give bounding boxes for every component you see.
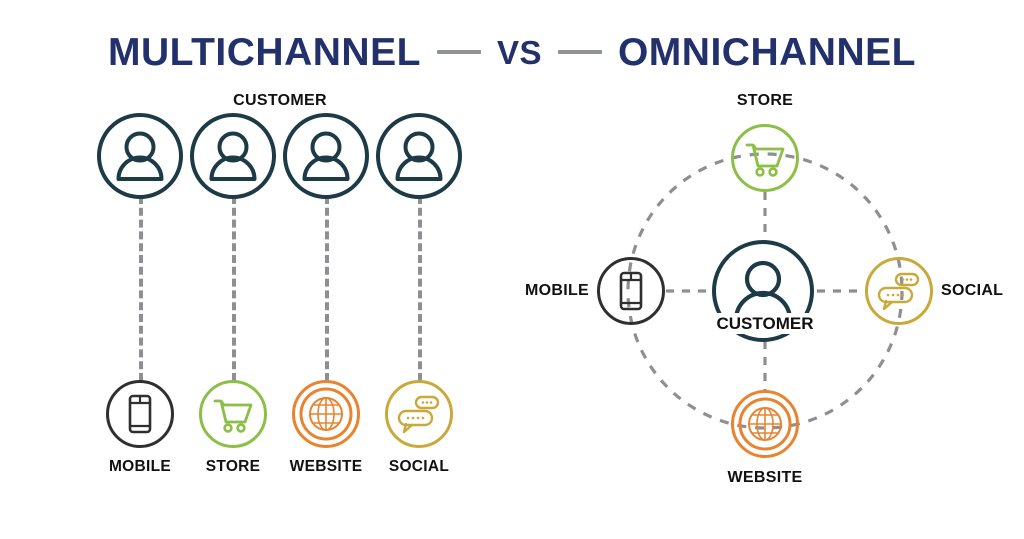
title-dash-left — [437, 50, 481, 54]
title-vs: VS — [497, 36, 542, 69]
channel-ring-mobile — [597, 257, 665, 325]
connector-store — [232, 196, 236, 381]
title-dash-right — [558, 50, 602, 54]
omnichannel-label-website: WEBSITE — [705, 470, 825, 486]
multichannel-channel-website[interactable] — [292, 380, 360, 448]
omnichannel-center-label: CUSTOMER — [700, 313, 830, 334]
multichannel-label-social: SOCIAL — [359, 459, 479, 475]
connector-website — [325, 196, 329, 381]
omnichannel-channel-mobile[interactable] — [597, 257, 665, 325]
channel-ring-social — [385, 380, 453, 448]
customer-ring — [283, 113, 369, 199]
multichannel-customer-2[interactable] — [190, 113, 276, 199]
title-omnichannel: OMNICHANNEL — [618, 33, 916, 72]
omnichannel-channel-store[interactable] — [731, 124, 799, 192]
omnichannel-channel-website[interactable] — [731, 390, 799, 458]
channel-ring-store — [199, 380, 267, 448]
customer-ring — [97, 113, 183, 199]
channel-ring-mobile — [106, 380, 174, 448]
omnichannel-label-store: STORE — [705, 93, 825, 109]
page-title: MULTICHANNEL VS OMNICHANNEL — [0, 26, 1024, 78]
omnichannel-channel-social[interactable] — [865, 257, 933, 325]
omnichannel-label-mobile: MOBILE — [509, 283, 589, 299]
multichannel-customer-4[interactable] — [376, 113, 462, 199]
multichannel-customer-3[interactable] — [283, 113, 369, 199]
multichannel-channel-social[interactable] — [385, 380, 453, 448]
multichannel-customer-heading: CUSTOMER — [200, 93, 360, 109]
title-multichannel: MULTICHANNEL — [108, 33, 421, 72]
connector-mobile — [139, 196, 143, 381]
infographic-canvas: MULTICHANNEL VS OMNICHANNEL CUSTOMER — [0, 0, 1024, 539]
multichannel-channel-mobile[interactable] — [106, 380, 174, 448]
customer-ring — [190, 113, 276, 199]
omnichannel-label-social: SOCIAL — [941, 283, 1021, 299]
channel-ring-website — [292, 380, 360, 448]
multichannel-customer-1[interactable] — [97, 113, 183, 199]
multichannel-channel-store[interactable] — [199, 380, 267, 448]
channel-ring-website — [731, 390, 799, 458]
connector-social — [418, 196, 422, 381]
customer-ring — [376, 113, 462, 199]
channel-ring-store — [731, 124, 799, 192]
channel-ring-social — [865, 257, 933, 325]
